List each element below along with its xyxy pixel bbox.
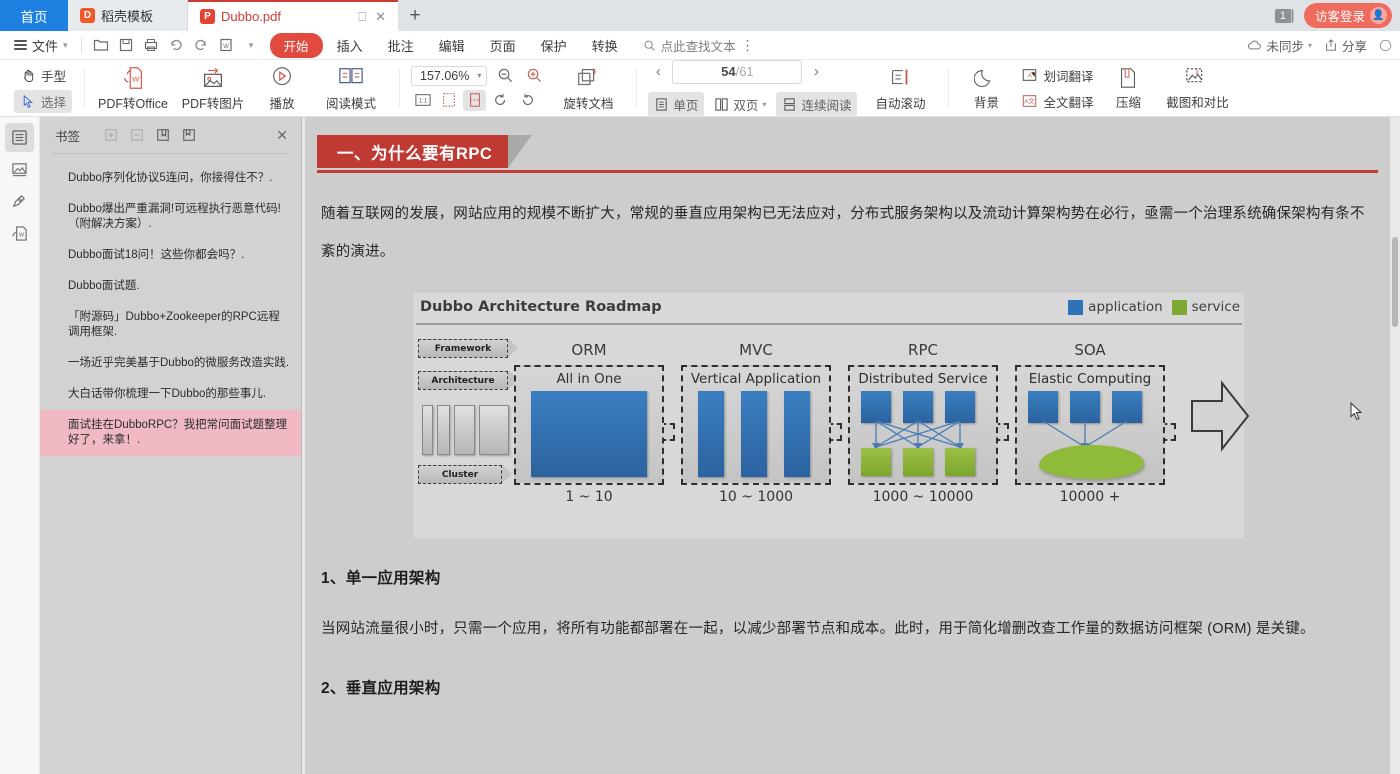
next-page-button[interactable]: › bbox=[806, 60, 826, 84]
full-translate-icon: A文 bbox=[1021, 93, 1038, 109]
play-button[interactable]: 播放 bbox=[253, 62, 311, 115]
page-navigation-group: ‹ 54 /61 › 单页 双页 ▾ 连续阅读 bbox=[645, 60, 860, 117]
pdf-to-image-label: PDF转图片 bbox=[182, 93, 245, 112]
screenshot-compare-icon bbox=[1184, 66, 1210, 90]
help-icon[interactable] bbox=[1379, 39, 1392, 52]
scrollbar-thumb[interactable] bbox=[1392, 237, 1398, 327]
stage-name-label: All in One bbox=[516, 367, 662, 387]
divider bbox=[399, 68, 400, 108]
svg-text:W: W bbox=[223, 44, 229, 50]
stage-name-label: Distributed Service bbox=[850, 367, 996, 387]
stage-name-label: Elastic Computing bbox=[1017, 367, 1163, 387]
stage-tech-label: RPC bbox=[848, 341, 998, 359]
rotate-right-icon bbox=[518, 92, 536, 108]
hand-tool-label: 手型 bbox=[41, 66, 66, 85]
heading-underline bbox=[317, 170, 1378, 173]
compress-label: 压缩 bbox=[1116, 92, 1141, 111]
undo-icon[interactable] bbox=[164, 34, 189, 56]
chevron-down-icon: ▾ bbox=[63, 40, 68, 51]
svg-text:1:1: 1:1 bbox=[418, 98, 427, 105]
dubbo-architecture-diagram: Dubbo Architecture Roadmap application s… bbox=[414, 293, 1244, 538]
actual-size-icon: 1:1 bbox=[414, 92, 432, 108]
section-heading: 一、为什么要有RPC bbox=[317, 135, 1381, 168]
bookmark-panel-icon[interactable] bbox=[5, 123, 34, 152]
document-viewer[interactable]: 一、为什么要有RPC 随着互联网的发展，网站应用的规模不断扩大，常规的垂直应用架… bbox=[302, 117, 1400, 774]
divider bbox=[636, 68, 637, 108]
tab-count-badge[interactable]: 1 bbox=[1275, 9, 1294, 23]
login-label: 访客登录 bbox=[1315, 6, 1365, 25]
viewer-left-edge bbox=[302, 117, 305, 774]
play-icon bbox=[269, 65, 295, 91]
fit-width-icon bbox=[466, 92, 484, 108]
tabbar-right-area: 1 访客登录 👤 bbox=[1275, 0, 1400, 31]
expand-all-icon[interactable] bbox=[98, 124, 124, 146]
badge-architecture: Architecture bbox=[418, 371, 508, 390]
application-node bbox=[531, 391, 647, 477]
application-node bbox=[741, 391, 767, 477]
page-number-input[interactable]: 54 /61 bbox=[672, 60, 802, 84]
menu-item-edit[interactable]: 编辑 bbox=[428, 33, 476, 58]
home-tab[interactable]: 首页 bbox=[0, 0, 68, 31]
ribbon-toolbar: 手型 选择 W PDF转Office PDF转图片 播放 bbox=[0, 60, 1400, 117]
legend-swatch-service bbox=[1172, 300, 1187, 315]
redo-icon[interactable] bbox=[189, 34, 214, 56]
cluster-node bbox=[422, 405, 433, 455]
application-node bbox=[1028, 391, 1058, 423]
continuous-read-icon bbox=[782, 97, 797, 112]
rotate-document-label: 旋转文档 bbox=[563, 93, 613, 112]
share-icon bbox=[1324, 38, 1338, 52]
fit-page-button[interactable] bbox=[437, 90, 460, 111]
bookmark-item[interactable]: 「附源码」Dubbo+Zookeeper的RPC远程调用框架. bbox=[40, 302, 301, 348]
edit-bookmark-icon[interactable] bbox=[176, 124, 202, 146]
elastic-cloud-node bbox=[1039, 445, 1144, 479]
compress-button[interactable]: 压缩 bbox=[1099, 62, 1157, 115]
hand-tool-button[interactable]: 手型 bbox=[14, 64, 72, 87]
pdf-icon: P bbox=[200, 9, 215, 24]
read-mode-button[interactable]: 阅读模式 bbox=[311, 62, 391, 115]
application-node bbox=[861, 391, 891, 423]
rpc-connection-lines bbox=[848, 421, 998, 451]
divider bbox=[52, 153, 289, 154]
chevron-down-icon: ▾ bbox=[477, 71, 481, 80]
divider bbox=[84, 68, 85, 108]
compress-icon bbox=[1116, 66, 1140, 90]
menu-item-start[interactable]: 开始 bbox=[270, 33, 323, 58]
add-bookmark-icon[interactable] bbox=[150, 124, 176, 146]
application-node bbox=[1112, 391, 1142, 423]
double-page-view-button[interactable]: 双页 ▾ bbox=[708, 92, 772, 117]
book-icon bbox=[337, 65, 365, 91]
diagram-divider bbox=[416, 323, 1242, 325]
bookmark-item[interactable]: Dubbo面试题. bbox=[40, 271, 301, 302]
play-label: 播放 bbox=[270, 93, 295, 112]
pdf-to-office-label: PDF转Office bbox=[98, 93, 168, 112]
intro-paragraph: 随着互联网的发展，网站应用的规模不断扩大，常规的垂直应用架构已无法应对，分布式服… bbox=[321, 195, 1376, 271]
legend-swatch-application bbox=[1068, 300, 1083, 315]
rotate-right-button[interactable] bbox=[515, 90, 538, 111]
bookmark-item[interactable]: 大白话带你梳理一下Dubbo的那些事儿. bbox=[40, 379, 301, 410]
single-page-label: 单页 bbox=[673, 95, 698, 114]
cluster-node bbox=[479, 405, 509, 455]
divider bbox=[948, 68, 949, 108]
hamburger-icon bbox=[14, 38, 27, 52]
legend-item-application: application bbox=[1068, 299, 1162, 315]
tab-docer-template[interactable]: D 稻壳模板 bbox=[68, 0, 188, 31]
menu-item-insert[interactable]: 插入 bbox=[326, 33, 374, 58]
sync-label: 未同步 bbox=[1266, 36, 1304, 55]
zoom-group: 157.06% ▾ 1:1 bbox=[408, 66, 548, 111]
auto-scroll-icon bbox=[887, 65, 913, 91]
bookmark-item-selected[interactable]: 面试挂在DubboRPC？我把常问面试题整理好了，来拿！. bbox=[40, 410, 301, 456]
pdf-to-image-button[interactable]: PDF转图片 bbox=[173, 62, 253, 115]
fit-page-icon bbox=[440, 92, 458, 108]
heading-triangle-decoration bbox=[508, 135, 532, 168]
new-tab-button[interactable]: + bbox=[398, 0, 432, 31]
collapse-all-icon[interactable] bbox=[124, 124, 150, 146]
rotate-document-button[interactable]: 旋转文档 bbox=[548, 62, 628, 115]
hand-icon bbox=[20, 68, 36, 83]
close-bookmarks-icon[interactable]: ✕ bbox=[276, 127, 288, 144]
zoom-in-button[interactable] bbox=[523, 66, 545, 86]
tab-dubbo-pdf[interactable]: P Dubbo.pdf ⎕ ✕ bbox=[188, 0, 398, 31]
share-label: 分享 bbox=[1342, 36, 1367, 55]
background-label: 背景 bbox=[974, 92, 999, 111]
word-translate-icon: A bbox=[1021, 67, 1038, 83]
restore-window-icon[interactable]: ⎕ bbox=[358, 9, 366, 25]
badge-cluster: Cluster bbox=[418, 465, 502, 484]
pdf-to-image-icon bbox=[200, 65, 226, 91]
menu-overflow-icon[interactable]: ⋮ bbox=[736, 37, 760, 54]
thumbnail-panel-icon[interactable] bbox=[5, 155, 34, 184]
double-page-label: 双页 bbox=[733, 95, 758, 114]
menu-item-protect[interactable]: 保护 bbox=[530, 33, 578, 58]
select-tool-label: 选择 bbox=[41, 92, 66, 111]
side-panel-rail: W bbox=[0, 117, 40, 774]
vertical-scrollbar[interactable] bbox=[1390, 117, 1400, 774]
print-icon[interactable] bbox=[139, 34, 164, 56]
zoom-level-value: 157.06% bbox=[420, 69, 469, 83]
pointer-tools-group: 手型 选择 bbox=[10, 64, 76, 113]
browser-tab-bar: 首页 D 稻壳模板 P Dubbo.pdf ⎕ ✕ + 1 访客登录 👤 bbox=[0, 0, 1400, 31]
full-translate-label: 全文翻译 bbox=[1043, 92, 1093, 111]
application-node bbox=[903, 391, 933, 423]
screenshot-compare-label: 截图和对比 bbox=[1166, 92, 1229, 111]
svg-text:W: W bbox=[132, 74, 139, 83]
roadmap-arrow-icon bbox=[1190, 379, 1250, 453]
bookmarks-list: Dubbo序列化协议5连问，你接得住不？. Dubbo爆出严重漏洞!可远程执行恶… bbox=[40, 160, 301, 774]
home-tab-label: 首页 bbox=[21, 6, 48, 26]
file-menu-button[interactable]: 文件 ▾ bbox=[8, 36, 74, 55]
word-translate-button[interactable]: A 划词翻译 bbox=[1015, 64, 1099, 87]
subheading-2: 2、垂直应用架构 bbox=[321, 676, 1376, 698]
login-button[interactable]: 访客登录 👤 bbox=[1304, 3, 1392, 28]
legend-label-application: application bbox=[1088, 299, 1162, 315]
zoom-out-icon bbox=[497, 67, 514, 84]
bookmark-item[interactable]: Dubbo爆出严重漏洞!可远程执行恶意代码!（附解决方案）. bbox=[40, 194, 301, 240]
sync-status-button[interactable]: 未同步 ▾ bbox=[1247, 36, 1312, 55]
bookmark-item[interactable]: Dubbo序列化协议5连问，你接得住不？. bbox=[40, 163, 301, 194]
continuous-read-button[interactable]: 连续阅读 bbox=[776, 92, 857, 117]
stage-count-label: 10000 + bbox=[1015, 489, 1165, 505]
word-translate-label: 划词翻译 bbox=[1043, 66, 1093, 85]
badge-framework: Framework bbox=[418, 339, 508, 358]
open-folder-icon[interactable] bbox=[89, 34, 114, 56]
bookmark-item[interactable]: 一场近乎完美基于Dubbo的微服务改造实践. bbox=[40, 348, 301, 379]
service-node bbox=[903, 448, 933, 476]
section-heading-text: 一、为什么要有RPC bbox=[317, 135, 508, 168]
pdf-to-office-button[interactable]: W PDF转Office bbox=[93, 62, 173, 115]
pdf-page: 一、为什么要有RPC 随着互联网的发展，网站应用的规模不断扩大，常规的垂直应用架… bbox=[306, 117, 1396, 774]
svg-text:A: A bbox=[1028, 73, 1033, 80]
full-translate-button[interactable]: A文 全文翻译 bbox=[1015, 90, 1099, 113]
stage-name-label: Vertical Application bbox=[683, 367, 829, 387]
menu-item-list: 开始 插入 批注 编辑 页面 保护 转换 bbox=[270, 33, 629, 58]
stage-count-label: 1000 ~ 10000 bbox=[848, 489, 998, 505]
file-menu-label: 文件 bbox=[32, 36, 58, 55]
continuous-read-label: 连续阅读 bbox=[801, 95, 851, 114]
search-icon bbox=[643, 39, 656, 52]
zoom-level-select[interactable]: 157.06% ▾ bbox=[411, 66, 487, 86]
menu-item-page[interactable]: 页面 bbox=[479, 33, 527, 58]
single-page-view-button[interactable]: 单页 bbox=[648, 92, 704, 117]
stage-count-label: 1 ~ 10 bbox=[514, 489, 664, 505]
auto-scroll-button[interactable]: 自动滚动 bbox=[860, 62, 940, 115]
zoom-in-icon bbox=[526, 67, 543, 84]
diagram-title: Dubbo Architecture Roadmap bbox=[420, 299, 662, 315]
annotation-panel-icon[interactable] bbox=[5, 187, 34, 216]
tab-label: 稻壳模板 bbox=[101, 6, 153, 25]
rotate-document-icon bbox=[574, 65, 602, 91]
fit-width-button[interactable] bbox=[463, 90, 486, 111]
application-node bbox=[1070, 391, 1100, 423]
mouse-cursor-icon bbox=[1350, 402, 1364, 422]
cluster-node bbox=[437, 405, 450, 455]
customize-caret-icon[interactable]: ▾ bbox=[239, 34, 264, 56]
svg-text:A文: A文 bbox=[1025, 98, 1036, 106]
tab-label: Dubbo.pdf bbox=[221, 9, 281, 24]
chevron-down-icon: ▾ bbox=[1308, 41, 1312, 50]
auto-scroll-label: 自动滚动 bbox=[875, 93, 925, 112]
stage-count-label: 10 ~ 1000 bbox=[681, 489, 831, 505]
cloud-icon bbox=[1247, 39, 1262, 52]
export-panel-icon[interactable]: W bbox=[5, 219, 34, 248]
stage-tech-label: MVC bbox=[681, 341, 831, 359]
main-area: W 书签 ✕ Dubbo序列化协议5连问，你接得住不？. Dubbo爆出严重漏洞… bbox=[0, 117, 1400, 774]
divider bbox=[81, 37, 82, 54]
service-node bbox=[945, 448, 975, 476]
select-tool-button[interactable]: 选择 bbox=[14, 90, 72, 113]
legend-label-service: service bbox=[1192, 299, 1240, 315]
close-tab-icon[interactable]: ✕ bbox=[375, 9, 386, 25]
paragraph-1: 当网站流量很小时，只需一个应用，将所有功能都部署在一起，以减少部署节点和成本。此… bbox=[321, 610, 1376, 648]
menu-bar: 文件 ▾ W ▾ 开始 插入 批注 编辑 页面 保护 转换 点此查找文本 ⋮ 未… bbox=[0, 31, 1400, 60]
double-page-icon bbox=[714, 97, 729, 112]
save-icon[interactable] bbox=[114, 34, 139, 56]
translate-group: A 划词翻译 A文 全文翻译 bbox=[1015, 64, 1099, 113]
subheading-1: 1、单一应用架构 bbox=[321, 566, 1376, 588]
background-button[interactable]: 背景 bbox=[957, 62, 1015, 115]
zoom-out-button[interactable] bbox=[494, 66, 516, 86]
current-page-value: 54 bbox=[721, 64, 735, 79]
cursor-arrow-icon bbox=[20, 94, 36, 109]
diagram-legend: application service bbox=[1068, 299, 1240, 315]
single-page-icon bbox=[654, 97, 669, 112]
bookmarks-panel: 书签 ✕ Dubbo序列化协议5连问，你接得住不？. Dubbo爆出严重漏洞!可… bbox=[40, 117, 302, 774]
stage-tech-label: SOA bbox=[1015, 341, 1165, 359]
export-pdf-icon[interactable]: W bbox=[214, 34, 239, 56]
screenshot-compare-button[interactable]: 截图和对比 bbox=[1157, 62, 1237, 115]
menubar-right-area: 未同步 ▾ 分享 bbox=[1247, 36, 1392, 55]
cluster-node bbox=[454, 405, 475, 455]
menu-item-convert[interactable]: 转换 bbox=[581, 33, 629, 58]
new-tab-label: + bbox=[409, 5, 420, 27]
svg-text:W: W bbox=[19, 232, 25, 238]
legend-item-service: service bbox=[1172, 299, 1240, 315]
bookmark-item[interactable]: Dubbo面试18问！这些你都会吗？. bbox=[40, 240, 301, 271]
rotate-left-icon bbox=[492, 92, 510, 108]
read-mode-label: 阅读模式 bbox=[326, 93, 376, 112]
actual-size-button[interactable]: 1:1 bbox=[411, 90, 434, 111]
chevron-down-icon: ▾ bbox=[762, 100, 766, 109]
moon-icon bbox=[974, 66, 998, 90]
service-node bbox=[861, 448, 891, 476]
application-node bbox=[784, 391, 810, 477]
application-node bbox=[945, 391, 975, 423]
total-pages-value: /61 bbox=[736, 64, 754, 79]
search-placeholder: 点此查找文本 bbox=[661, 36, 736, 55]
bookmarks-title: 书签 bbox=[55, 126, 80, 145]
avatar-icon: 👤 bbox=[1370, 7, 1387, 24]
share-button[interactable]: 分享 bbox=[1324, 36, 1367, 55]
search-input[interactable]: 点此查找文本 bbox=[643, 36, 736, 55]
menu-item-comment[interactable]: 批注 bbox=[377, 33, 425, 58]
stage-tech-label: ORM bbox=[514, 341, 664, 359]
application-node bbox=[698, 391, 724, 477]
pdf-to-office-icon: W bbox=[120, 65, 146, 91]
docer-icon: D bbox=[80, 8, 95, 23]
bookmarks-header: 书签 ✕ bbox=[40, 117, 301, 153]
rotate-left-button[interactable] bbox=[489, 90, 512, 111]
previous-page-button[interactable]: ‹ bbox=[648, 60, 668, 84]
